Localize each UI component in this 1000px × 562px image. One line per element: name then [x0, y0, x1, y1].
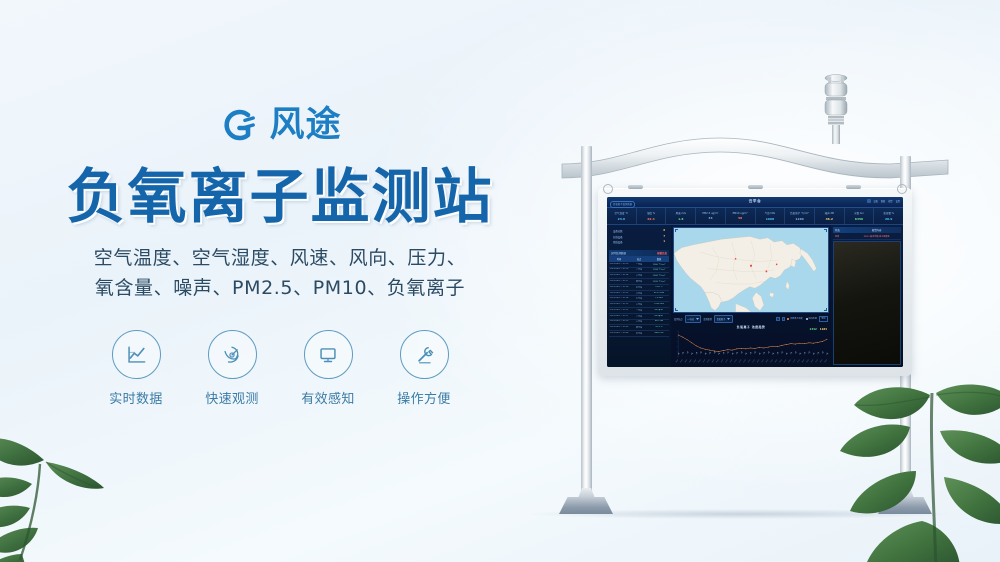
metric-card: 噪声 dB 46.2 — [815, 208, 845, 224]
svg-text:00:00: 00:00 — [675, 359, 679, 363]
column-header: 数值 — [649, 257, 669, 261]
line-chart-icon — [112, 330, 161, 379]
svg-text:07:00: 07:00 — [707, 359, 711, 363]
table-cell: 2023-08-17 10:18 — [609, 274, 629, 277]
map-corner-bracket — [675, 308, 678, 311]
table-cell: 1205 个/cm³ — [649, 280, 669, 283]
stat-value: 7 — [663, 235, 665, 239]
svg-text:05:00: 05:00 — [698, 359, 702, 363]
map-corner-bracket — [824, 308, 827, 311]
svg-text:10:00: 10:00 — [720, 359, 724, 363]
svg-text:32:00: 32:00 — [820, 359, 824, 363]
table-cell: 23.6 ℃ — [649, 286, 669, 289]
stat-row: 在线设备 7 — [613, 235, 665, 239]
table-cell: 2023-08-17 10:20 — [609, 263, 629, 266]
table-cell: 58 ug/m³ — [649, 315, 669, 318]
table-cell: 62.4 %RH — [649, 292, 669, 295]
fengtu-logo-icon — [218, 104, 260, 146]
table-cell: 二号站 — [629, 268, 649, 271]
svg-text:08:00: 08:00 — [711, 359, 715, 363]
column-header: 时间 — [609, 257, 629, 261]
table-cell: 五号站 — [629, 286, 649, 289]
svg-text:18:00: 18:00 — [756, 359, 760, 363]
prev-button[interactable] — [776, 317, 780, 321]
dashboard-screen[interactable]: 负氧离子监测系统 云平台 设备 数据 报警 设置 空气温度 ℃ 23.6 湿度 … — [607, 197, 903, 367]
brand-name: 风途 — [269, 108, 341, 143]
metric-card: 负氧离子 个/cm³ 1260 — [785, 208, 815, 224]
table-cell: 2023-08-17 10:12 — [609, 309, 629, 312]
center-panel: 监测站点 一号站 监测要素 负氧离子 — [671, 225, 831, 367]
ultrasonic-weather-sensor — [819, 72, 853, 144]
table-cell: 1184 个/cm³ — [649, 268, 669, 271]
legend-label: 负氧离子浓度 — [790, 317, 802, 320]
metric-label: 气压 hPa — [765, 211, 775, 215]
sensor-list: 空气温度、空气湿度、风速、风向、压力、 氧含量、噪声、PM2.5、PM10、负氧… — [94, 243, 466, 305]
metric-value: 58 — [738, 216, 742, 220]
feature-row: 实时数据 快速观测 有效感知 — [103, 330, 457, 407]
table-cell: 2023-08-17 10:11 — [609, 315, 629, 318]
dashboard-toolbar[interactable]: 设备 数据 报警 设置 — [867, 199, 901, 203]
toolbar-item[interactable]: 数据 — [881, 199, 885, 203]
feature-realtime-data[interactable]: 实时数据 — [103, 330, 169, 407]
table-cell: 六号站 — [629, 292, 649, 295]
stat-value: 1 — [663, 240, 665, 244]
table-cell: 四号站 — [629, 326, 649, 329]
table-cell: 1008 hPa — [649, 303, 669, 306]
svg-text:06:00: 06:00 — [702, 359, 706, 363]
svg-text:24:00: 24:00 — [783, 359, 787, 363]
svg-text:12:00: 12:00 — [729, 359, 733, 363]
table-cell: 二号站 — [629, 315, 649, 318]
table-cell: 2023-08-17 10:19 — [609, 268, 629, 271]
display-cabinet: 负氧离子监测系统 云平台 设备 数据 报警 设置 空气温度 ℃ 23.6 湿度 … — [598, 188, 912, 376]
readout-min: 1184 — [820, 328, 827, 331]
metric-value: 20.9 — [885, 217, 892, 221]
metric-value: 62.4 — [647, 217, 654, 221]
metric-label: 光照 lux — [854, 211, 864, 215]
home-icon[interactable] — [867, 199, 871, 203]
svg-text:28:00: 28:00 — [802, 359, 806, 363]
metric-label: 氧含量 % — [883, 211, 894, 215]
metric-card: 光照 lux 8450 — [845, 208, 875, 224]
alert-message: PM10 超出阈值 请注意查看 — [854, 235, 899, 238]
feature-fast-observation[interactable]: 快速观测 — [199, 330, 265, 407]
toolbar-item[interactable]: 设置 — [896, 199, 900, 203]
svg-text:13:00: 13:00 — [734, 359, 738, 363]
table-row[interactable]: 2023-08-17 10:08五号站8450 lux — [609, 331, 669, 337]
table-cell: 2023-08-17 10:08 — [609, 332, 629, 335]
table-body[interactable]: 2023-08-17 10:20一号站1260 个/cm³2023-08-17 … — [609, 262, 669, 365]
china-map[interactable] — [673, 227, 829, 313]
table-cell: 20.9 % — [649, 326, 669, 329]
alert-status: 报警 — [835, 235, 854, 238]
stat-value: 8 — [663, 229, 665, 233]
mount-tab — [846, 185, 861, 189]
svg-text:14:00: 14:00 — [738, 359, 742, 363]
svg-text:09:00: 09:00 — [716, 359, 720, 363]
map-corner-bracket — [675, 229, 678, 232]
wrench-icon — [400, 330, 449, 379]
legend-swatch — [787, 318, 789, 320]
metric-value: 8450 — [855, 217, 863, 221]
feature-label: 有效感知 — [301, 388, 355, 407]
table-cell: 2023-08-17 10:17 — [609, 280, 629, 283]
chart-toolbar: 监测站点 一号站 监测要素 负氧离子 — [673, 313, 829, 325]
device-stats: 设备总数 8 在线设备 7 离线设备 1 — [609, 227, 669, 249]
svg-text:15:00: 15:00 — [743, 359, 747, 363]
table-cell: 1342 个/cm³ — [649, 274, 669, 277]
left-panel: 设备总数 8 在线设备 7 离线设备 1 实时监测数据 — [607, 225, 671, 367]
mount-ring-left — [603, 184, 613, 194]
table-cell: 2023-08-17 10:15 — [609, 292, 629, 295]
legend-item: 风向风速 — [806, 317, 817, 320]
metric-value: 23.6 — [618, 217, 625, 221]
metric-value: 34 — [708, 216, 712, 220]
right-panel: 状态 报警内容 报警 PM10 超出阈值 请注意查看 — [831, 225, 903, 367]
table-cell: 三号站 — [629, 274, 649, 277]
table-cell: 46.2 dB — [649, 320, 669, 323]
svg-text:11:00: 11:00 — [725, 359, 729, 363]
dashboard-header: 负氧离子监测系统 云平台 设备 数据 报警 设置 — [607, 197, 903, 208]
map-corner-bracket — [824, 229, 827, 232]
svg-text:19:00: 19:00 — [761, 359, 765, 363]
dashboard-body: 设备总数 8 在线设备 7 离线设备 1 实时监测数据 — [607, 225, 903, 367]
svg-text:21:00: 21:00 — [770, 359, 774, 363]
legend-label: 风向风速 — [809, 317, 817, 320]
svg-text:02:00: 02:00 — [684, 359, 688, 363]
feature-label: 操作方便 — [397, 388, 451, 407]
svg-text:30:00: 30:00 — [811, 359, 815, 363]
trend-chart[interactable]: 1342 1184 00:0001:0002:0003:0004:0005:00… — [673, 329, 829, 365]
stat-row: 设备总数 8 — [613, 229, 665, 233]
svg-text:03:00: 03:00 — [689, 359, 693, 363]
support-pole-left — [581, 146, 592, 498]
svg-text:01:00: 01:00 — [680, 359, 684, 363]
table-title: 实时监测数据 — [611, 251, 626, 255]
svg-text:22:00: 22:00 — [774, 359, 778, 363]
table-cell: 8450 lux — [649, 332, 669, 335]
monitor-icon — [304, 330, 353, 379]
readout-max: 1342 — [810, 328, 817, 331]
metric-label: 噪声 dB — [825, 211, 834, 215]
station-select-label: 监测站点 — [674, 317, 683, 321]
metric-strip: 空气温度 ℃ 23.6 湿度 % 62.4 风速 m/s 1.8 PM2.5 u… — [607, 208, 903, 225]
table-cell: 34 ug/m³ — [649, 309, 669, 312]
toolbar-item[interactable]: 报警 — [888, 199, 892, 203]
legend-item: 负氧离子浓度 — [787, 317, 802, 320]
legend-swatch — [806, 318, 808, 320]
svg-text:31:00: 31:00 — [815, 359, 819, 363]
monitoring-station: 负氧离子监测系统 云平台 设备 数据 报警 设置 空气温度 ℃ 23.6 湿度 … — [520, 60, 980, 530]
system-name-chip: 负氧离子监测系统 — [610, 201, 635, 208]
wave-canopy — [560, 130, 950, 186]
station-select-value: 一号站 — [687, 317, 694, 321]
stat-label: 设备总数 — [613, 229, 623, 233]
svg-text:27:00: 27:00 — [797, 359, 801, 363]
metric-card: 湿度 % 62.4 — [637, 208, 667, 224]
svg-text:16:00: 16:00 — [747, 359, 751, 363]
column-header: 状态 — [835, 228, 854, 232]
ground-shadow — [530, 509, 950, 519]
radar-swirl-icon — [208, 330, 257, 379]
metric-label: 负氧离子 个/cm³ — [790, 211, 809, 215]
element-select-label: 监测要素 — [703, 317, 712, 321]
table-cell: 2023-08-17 10:10 — [609, 320, 629, 323]
metric-value: 1260 — [795, 217, 803, 221]
metric-label: 风速 m/s — [676, 211, 686, 215]
sensor-list-line-2: 氧含量、噪声、PM2.5、PM10、负氧离子 — [94, 273, 466, 304]
sensor-list-line-1: 空气温度、空气湿度、风速、风向、压力、 — [94, 243, 466, 274]
mount-tab — [748, 185, 763, 189]
feature-effective-sensing[interactable]: 有效感知 — [295, 330, 361, 407]
svg-text:26:00: 26:00 — [793, 359, 797, 363]
table-cell: 1260 个/cm³ — [649, 263, 669, 266]
toolbar-item[interactable]: 设备 — [874, 199, 878, 203]
column-header: 报警内容 — [854, 228, 899, 232]
chart-readout: 1342 1184 — [810, 328, 827, 331]
svg-text:17:00: 17:00 — [752, 359, 756, 363]
metric-label: PM10 ug/m³ — [733, 212, 748, 215]
chart-legend: 负氧离子浓度 风向风速 — [787, 317, 817, 320]
alarm-tag[interactable]: 报警信息 — [657, 251, 667, 255]
page-title: 负氧离子监测站 — [66, 166, 493, 229]
brand-lockup: 风途 — [218, 104, 341, 146]
feature-easy-operation[interactable]: 操作方便 — [391, 330, 457, 407]
table-cell: 2023-08-17 10:16 — [609, 286, 629, 289]
table-cell: 1.8 m/s — [649, 297, 669, 300]
table-cell: 四号站 — [629, 280, 649, 283]
chart-graphic: 00:0001:0002:0003:0004:0005:0006:0007:00… — [673, 329, 829, 365]
chevron-down-icon — [727, 318, 730, 320]
svg-text:20:00: 20:00 — [765, 359, 769, 363]
metric-value: 46.2 — [826, 217, 833, 221]
live-camera-view[interactable] — [833, 241, 901, 365]
metric-card: PM10 ug/m³ 58 — [726, 208, 756, 224]
map-graphic — [674, 228, 828, 312]
metric-label: 空气温度 ℃ — [615, 211, 629, 215]
column-header: 站点 — [629, 257, 649, 261]
mount-ring-right — [897, 184, 907, 194]
stat-row: 离线设备 1 — [613, 240, 665, 244]
metric-card: 氧含量 % 20.9 — [874, 208, 903, 224]
element-select-value: 负氧离子 — [717, 317, 726, 321]
station-select[interactable]: 一号站 — [685, 315, 702, 323]
svg-text:04:00: 04:00 — [693, 359, 697, 363]
metric-label: 湿度 % — [647, 211, 655, 215]
stat-label: 在线设备 — [613, 235, 623, 239]
metric-value: 1008 — [766, 217, 774, 221]
svg-text:23:00: 23:00 — [779, 359, 783, 363]
feature-label: 快速观测 — [205, 388, 259, 407]
svg-text:33:00: 33:00 — [824, 359, 828, 363]
metric-value: 1.8 — [678, 217, 683, 221]
svg-text:25:00: 25:00 — [788, 359, 792, 363]
alert-row[interactable]: 报警 PM10 超出阈值 请注意查看 — [833, 233, 901, 239]
table-cell: 七号站 — [629, 297, 649, 300]
metric-card: 气压 hPa 1008 — [756, 208, 786, 224]
svg-text:29:00: 29:00 — [806, 359, 810, 363]
table-cell: 一号站 — [629, 309, 649, 312]
table-cell: 五号站 — [629, 332, 649, 335]
chevron-down-icon — [696, 318, 699, 320]
element-select[interactable]: 负氧离子 — [714, 315, 733, 323]
export-button[interactable]: 导出 — [819, 316, 828, 322]
table-cell: 2023-08-17 10:13 — [609, 303, 629, 306]
table-cell: 三号站 — [629, 320, 649, 323]
metric-card: 风速 m/s 1.8 — [666, 208, 696, 224]
table-cell: 2023-08-17 10:09 — [609, 326, 629, 329]
metric-label: PM2.5 ug/m³ — [703, 212, 719, 215]
feature-label: 实时数据 — [109, 388, 163, 407]
mount-tab — [628, 185, 643, 189]
stat-label: 离线设备 — [613, 240, 623, 244]
metric-card: PM2.5 ug/m³ 34 — [696, 208, 726, 224]
next-button[interactable] — [782, 317, 786, 321]
dashboard-title: 云平台 — [749, 199, 762, 204]
table-cell: 2023-08-17 10:14 — [609, 297, 629, 300]
marketing-panel: 风途 负氧离子监测站 空气温度、空气湿度、风速、风向、压力、 氧含量、噪声、PM… — [0, 0, 560, 562]
metric-card: 空气温度 ℃ 23.6 — [607, 208, 637, 224]
table-cell: 一号站 — [629, 263, 649, 266]
table-cell: 八号站 — [629, 303, 649, 306]
